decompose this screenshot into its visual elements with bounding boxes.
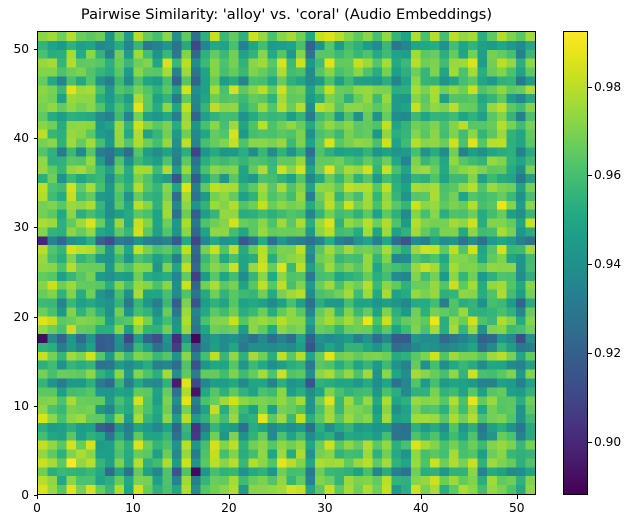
colorbar-tick-label: 0.98 [594, 80, 621, 94]
colorbar-gradient [564, 32, 587, 494]
y-tick-mark [34, 138, 38, 139]
x-tick-mark [421, 495, 422, 499]
x-tick-label: 20 [221, 501, 237, 515]
y-tick-label: 50 [0, 42, 29, 56]
y-tick-mark [34, 227, 38, 228]
page-title: Pairwise Similarity: 'alloy' vs. 'coral'… [0, 6, 573, 23]
x-tick-mark [133, 495, 134, 499]
colorbar-tick-label: 0.96 [594, 168, 621, 182]
colorbar-tick-label: 0.90 [594, 435, 621, 449]
x-tick-mark [37, 495, 38, 499]
colorbar-tick-mark [588, 87, 592, 88]
figure-canvas: Pairwise Similarity: 'alloy' vs. 'coral'… [0, 0, 638, 528]
colorbar-tick-mark [588, 175, 592, 176]
y-tick-mark [34, 495, 38, 496]
x-tick-label: 10 [125, 501, 141, 515]
y-tick-mark [34, 317, 38, 318]
y-tick-mark [34, 406, 38, 407]
x-tick-mark [325, 495, 326, 499]
x-tick-label: 0 [33, 501, 41, 515]
colorbar [563, 31, 588, 495]
y-tick-label: 10 [0, 399, 29, 413]
y-tick-label: 40 [0, 131, 29, 145]
x-tick-mark [517, 495, 518, 499]
y-tick-label: 0 [0, 488, 29, 502]
x-tick-label: 40 [413, 501, 429, 515]
colorbar-tick-label: 0.92 [594, 346, 621, 360]
x-tick-mark [229, 495, 230, 499]
heatmap-image [38, 32, 535, 494]
heatmap-axes [37, 31, 536, 495]
x-tick-label: 50 [509, 501, 525, 515]
x-tick-label: 30 [317, 501, 333, 515]
colorbar-tick-mark [588, 353, 592, 354]
colorbar-tick-mark [588, 264, 592, 265]
y-tick-mark [34, 49, 38, 50]
y-tick-label: 30 [0, 220, 29, 234]
colorbar-tick-mark [588, 442, 592, 443]
colorbar-tick-label: 0.94 [594, 257, 621, 271]
y-tick-label: 20 [0, 310, 29, 324]
